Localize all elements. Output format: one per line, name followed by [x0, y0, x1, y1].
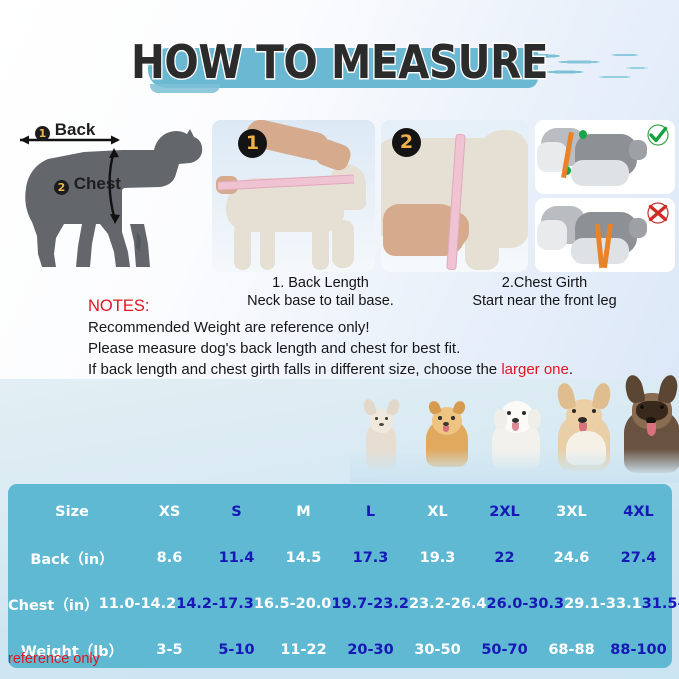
chest-4xl: 31.5-37.0	[642, 596, 679, 612]
back-label-text: Back	[55, 120, 96, 139]
size-table: Size XS S M L XL 2XL 3XL 4XL Back（in） 8.…	[8, 484, 672, 668]
back-number-badge: 1	[35, 126, 50, 141]
weight-xl: 30-50	[404, 642, 471, 658]
table-row-size: Size XS S M L XL 2XL 3XL 4XL	[8, 496, 672, 528]
weight-l: 20-30	[337, 642, 404, 658]
weight-3xl: 68-88	[538, 642, 605, 658]
size-chart-infographic: HOW TO MEASURE	[0, 0, 679, 679]
caption-back-title: 1. Back Length	[208, 274, 433, 292]
back-xl: 19.3	[404, 550, 471, 566]
notes-line-3-a: If back length and chest girth falls in …	[88, 361, 501, 378]
panel-2-badge: 2	[392, 128, 421, 157]
notes-line-1: Recommended Weight are reference only!	[88, 317, 573, 338]
photo-correct-position	[535, 120, 675, 194]
weight-s: 5-10	[203, 642, 270, 658]
green-check-icon	[646, 124, 670, 146]
size-3xl: 3XL	[538, 504, 605, 520]
back-xs: 8.6	[136, 550, 203, 566]
chest-3xl: 29.1-33.1	[564, 596, 642, 612]
caption-chest-title: 2.Chest Girth	[437, 274, 652, 292]
back-s: 11.4	[203, 550, 270, 566]
notes-line-3: If back length and chest girth falls in …	[88, 359, 573, 380]
back-m: 14.5	[270, 550, 337, 566]
notes-heading: NOTES:	[88, 296, 573, 317]
notes-line-3-highlight: larger one	[501, 361, 569, 378]
size-xl: XL	[404, 504, 471, 520]
back-2xl: 22	[471, 550, 538, 566]
weight-4xl: 88-100	[605, 642, 672, 658]
table-row-back: Back（in） 8.6 11.4 14.5 17.3 19.3 22 24.6…	[8, 542, 672, 574]
photo-incorrect-position	[535, 198, 675, 272]
panel-1-badge: 1	[238, 129, 267, 158]
photo-back-length	[212, 120, 375, 272]
size-2xl: 2XL	[471, 504, 538, 520]
notes-line-2: Please measure dog's back length and che…	[88, 338, 573, 359]
chest-xl: 23.2-26.4	[409, 596, 487, 612]
table-row-weight: Weight（lb） 3-5 5-10 11-22 20-30 30-50 50…	[8, 634, 672, 666]
chest-label-group: 2 Chest	[54, 174, 121, 195]
title-banner: HOW TO MEASURE	[0, 30, 679, 98]
row-label-back: Back（in）	[8, 548, 136, 569]
notes-line-3-c: .	[569, 361, 573, 378]
size-xs: XS	[136, 504, 203, 520]
size-s: S	[203, 504, 270, 520]
chest-2xl: 26.0-30.3	[487, 596, 565, 612]
back-3xl: 24.6	[538, 550, 605, 566]
chest-label-text: Chest	[74, 174, 121, 193]
size-m: M	[270, 504, 337, 520]
table-footnote: reference only	[8, 651, 100, 667]
chest-l: 19.7-23.2	[331, 596, 409, 612]
chest-m: 16.5-20.0	[254, 596, 332, 612]
dog-breeds-strip	[350, 379, 679, 483]
chest-s: 14.2-17.3	[176, 596, 254, 612]
table-row-chest: Chest（in） 11.0-14.2 14.2-17.3 16.5-20.0 …	[8, 588, 672, 620]
chest-number-badge: 2	[54, 180, 69, 195]
back-l: 17.3	[337, 550, 404, 566]
weight-xs: 3-5	[136, 642, 203, 658]
red-x-icon	[646, 202, 670, 224]
size-l: L	[337, 504, 404, 520]
notes-block: NOTES: Recommended Weight are reference …	[88, 296, 573, 380]
size-4xl: 4XL	[605, 504, 672, 520]
back-label-group: 1 Back	[35, 120, 95, 141]
weight-2xl: 50-70	[471, 642, 538, 658]
upper-section: HOW TO MEASURE	[0, 0, 679, 379]
back-4xl: 27.4	[605, 550, 672, 566]
row-label-chest: Chest（in）	[8, 594, 99, 615]
page-title: HOW TO MEASURE	[41, 30, 639, 94]
chest-xs: 11.0-14.2	[99, 596, 177, 612]
dog-silhouette-diagram: 1 Back 2 Chest	[4, 112, 209, 277]
row-label-size: Size	[8, 504, 136, 520]
weight-m: 11-22	[270, 642, 337, 658]
